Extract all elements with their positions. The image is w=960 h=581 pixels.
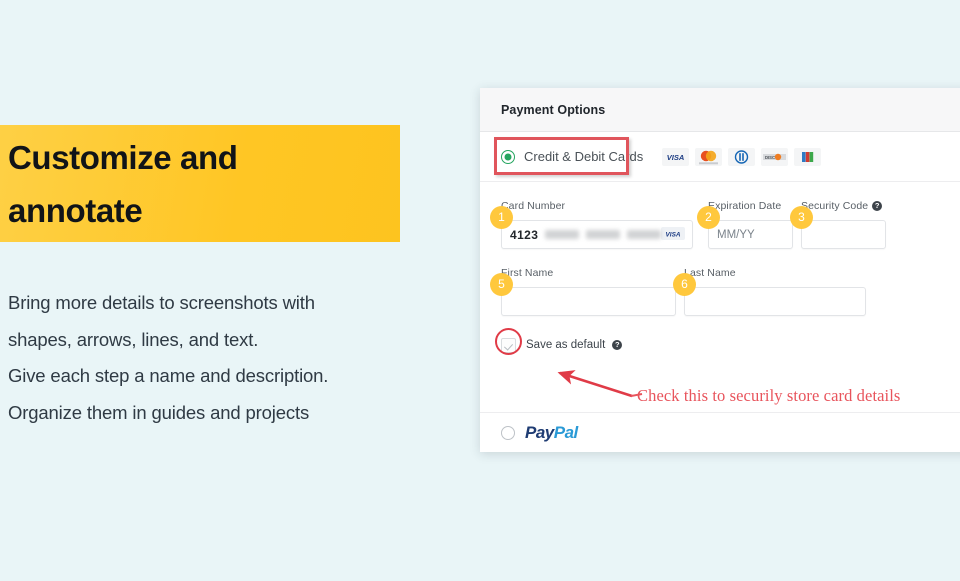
card-form: Card Number 4123 VISA	[480, 182, 960, 356]
card-details-row: Card Number 4123 VISA	[501, 200, 959, 249]
last-name-input[interactable]	[684, 287, 866, 316]
discover-brand-icon: DISC	[761, 148, 788, 166]
card-number-input[interactable]: 4123 VISA	[501, 220, 693, 249]
paypal-logo: PayPal	[525, 423, 578, 443]
step-badge-2: 2	[697, 206, 720, 229]
expiration-date-placeholder: MM/YY	[717, 229, 755, 241]
card-number-brand-badge: VISA	[661, 227, 685, 243]
save-as-default-label: Save as default	[526, 339, 605, 351]
promo-line-1: Bring more details to screenshots with	[8, 285, 440, 322]
security-code-help-icon[interactable]: ?	[872, 201, 882, 211]
promo-body-text: Bring more details to screenshots with s…	[8, 285, 440, 431]
panel-header: Payment Options	[480, 88, 960, 132]
promo-line-2: shapes, arrows, lines, and text.	[8, 322, 440, 359]
credit-debit-cards-label: Credit & Debit Cards	[524, 149, 643, 164]
headline-highlight-box: Customize and annotate	[0, 125, 400, 242]
card-number-value: 4123	[510, 228, 538, 242]
payment-options-panel: Payment Options Credit & Debit Cards VIS…	[480, 88, 960, 452]
step-badge-1: 1	[490, 206, 513, 229]
mastercard-brand-icon	[695, 148, 722, 166]
credit-debit-cards-radio[interactable]	[501, 150, 515, 164]
svg-text:VISA: VISA	[666, 231, 681, 238]
step-badge-6: 6	[673, 273, 696, 296]
card-number-label: Card Number	[501, 200, 693, 212]
security-code-field-group: Security Code ? 3	[801, 200, 886, 249]
card-number-masked-digits	[545, 230, 661, 239]
paypal-option-row[interactable]: PayPal	[480, 412, 960, 452]
promo-line-4: Organize them in guides and projects	[8, 395, 440, 432]
paypal-logo-pay: Pay	[525, 423, 554, 442]
save-as-default-help-icon[interactable]: ?	[612, 340, 622, 350]
headline-line-2: annotate	[8, 184, 400, 237]
save-as-default-checkbox[interactable]	[501, 338, 516, 353]
svg-text:DISC: DISC	[765, 155, 775, 160]
paypal-radio[interactable]	[501, 426, 515, 440]
paypal-logo-pal: Pal	[554, 423, 578, 442]
credit-debit-cards-option-row[interactable]: Credit & Debit Cards VISA	[480, 132, 960, 182]
jcb-brand-icon	[794, 148, 821, 166]
save-as-default-row[interactable]: Save as default ?	[501, 334, 959, 356]
expiration-date-field-group: Expiration Date MM/YY 2	[708, 200, 793, 249]
expiration-date-label: Expiration Date	[708, 200, 793, 212]
diners-club-brand-icon	[728, 148, 755, 166]
visa-brand-icon: VISA	[662, 148, 689, 166]
headline-line-1: Customize and	[8, 131, 400, 184]
card-number-field-group: Card Number 4123 VISA	[501, 200, 693, 249]
first-name-field-group: First Name 5	[501, 267, 676, 316]
first-name-input[interactable]	[501, 287, 676, 316]
step-badge-3: 3	[790, 206, 813, 229]
security-code-input[interactable]	[801, 220, 886, 249]
expiration-date-input[interactable]: MM/YY	[708, 220, 793, 249]
page-title: Payment Options	[501, 103, 605, 117]
security-code-label: Security Code ?	[801, 200, 886, 212]
promo-line-3: Give each step a name and description.	[8, 358, 440, 395]
promo-column: Customize and annotate Bring more detail…	[0, 0, 440, 576]
last-name-field-group: Last Name 6	[684, 267, 866, 316]
step-badge-5: 5	[490, 273, 513, 296]
name-details-row: First Name 5 Last Name 6	[501, 267, 959, 316]
last-name-label: Last Name	[684, 267, 866, 279]
card-brand-list: VISA D	[662, 148, 821, 166]
svg-text:VISA: VISA	[667, 153, 685, 162]
first-name-label: First Name	[501, 267, 676, 279]
